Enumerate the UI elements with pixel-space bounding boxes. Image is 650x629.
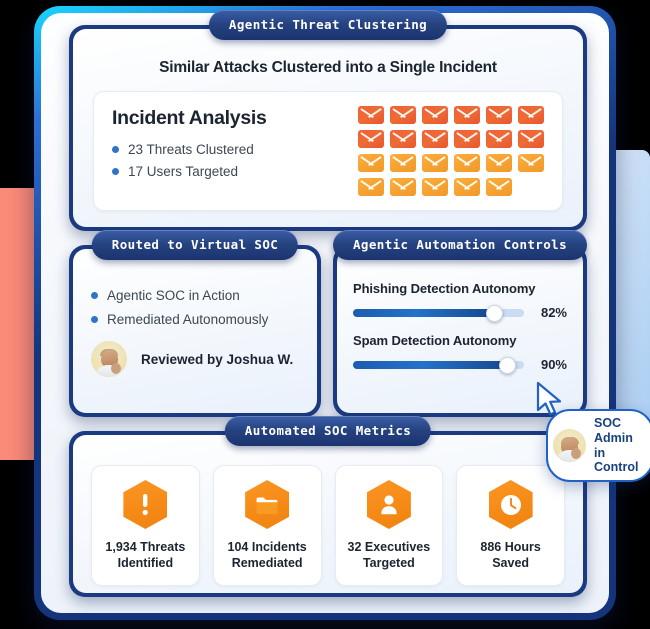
envelope-icon [454, 106, 480, 124]
incident-bullet-label: 23 Threats Clustered [128, 142, 254, 157]
device-frame: Agentic Threat Clustering Similar Attack… [34, 6, 616, 620]
folder-icon [245, 480, 289, 529]
metric-line2: Saved [461, 555, 560, 571]
metric-line1: 104 Incidents [218, 539, 317, 555]
reviewer-name: Reviewed by Joshua W. [141, 352, 293, 367]
alert-exclamation-icon [123, 480, 167, 529]
tooltip-text: SOC Admin in Control [594, 416, 638, 475]
badge-soc-metrics: Automated SOC Metrics [225, 416, 431, 446]
controls-content: Phishing Detection Autonomy 82% Spam Det… [337, 249, 583, 372]
slider-thumb[interactable] [499, 357, 516, 374]
list-item: Remediated Autonomously [91, 312, 317, 327]
metric-line2: Remediated [218, 555, 317, 571]
metric-line1: 1,934 Threats [96, 539, 195, 555]
list-item: 23 Threats Clustered [112, 142, 267, 157]
routed-bullet-label: Agentic SOC in Action [107, 288, 240, 303]
slider-label-spam: Spam Detection Autonomy [353, 333, 567, 348]
spam-autonomy-value: 90% [533, 357, 567, 372]
panel-metrics-body: 1,934 Threats Identified 104 Incidents R… [73, 435, 583, 593]
incident-analysis-text: Incident Analysis 23 Threats Clustered 1… [94, 92, 267, 186]
frame-inner-surface: Agentic Threat Clustering Similar Attack… [41, 13, 609, 613]
tooltip-line2: in Control [594, 446, 638, 476]
envelope-grid [358, 92, 562, 196]
metric-card-threats-identified: 1,934 Threats Identified [91, 465, 200, 586]
phishing-autonomy-value: 82% [533, 305, 567, 320]
envelope-icon [454, 154, 480, 172]
bullet-dot-icon [112, 146, 119, 153]
clock-icon [489, 480, 533, 529]
metric-card-incidents-remediated: 104 Incidents Remediated [213, 465, 322, 586]
soc-admin-tooltip: SOC Admin in Control [546, 409, 650, 482]
panel-soc-metrics: Automated SOC Metrics 1,934 Threats Iden… [69, 431, 587, 597]
metric-line2: Identified [96, 555, 195, 571]
envelope-icon [518, 130, 544, 148]
reviewer-row: Reviewed by Joshua W. [91, 341, 317, 377]
slider-fill [353, 309, 493, 317]
routed-bullet-label: Remediated Autonomously [107, 312, 268, 327]
envelope-icon [422, 130, 448, 148]
envelope-icon [358, 130, 384, 148]
metric-line1: 32 Executives [340, 539, 439, 555]
envelope-icon [390, 178, 416, 196]
envelope-icon [390, 106, 416, 124]
badge-routed-virtual-soc: Routed to Virtual SOC [92, 230, 298, 260]
panel-routed-virtual-soc: Routed to Virtual SOC Agentic SOC in Act… [69, 245, 321, 417]
envelope-icon [358, 154, 384, 172]
badge-threat-clustering: Agentic Threat Clustering [209, 10, 447, 40]
slider-thumb[interactable] [486, 305, 503, 322]
bullet-dot-icon [91, 316, 98, 323]
incident-analysis-title: Incident Analysis [112, 107, 267, 130]
envelope-icon [390, 154, 416, 172]
envelope-icon [454, 130, 480, 148]
envelope-icon [422, 106, 448, 124]
phishing-autonomy-slider[interactable] [353, 309, 524, 317]
slider-fill [353, 361, 507, 369]
slider-row-spam[interactable]: 90% [353, 357, 567, 372]
avatar [91, 341, 127, 377]
envelope-icon [454, 178, 480, 196]
envelope-icon [486, 154, 512, 172]
envelope-icon [422, 154, 448, 172]
envelope-icon [390, 130, 416, 148]
avatar [553, 429, 586, 462]
metric-line2: Targeted [340, 555, 439, 571]
metric-card-executives-targeted: 32 Executives Targeted [335, 465, 444, 586]
envelope-icon [422, 178, 448, 196]
envelope-icon [486, 106, 512, 124]
panel-routed-body: Agentic SOC in Action Remediated Autonom… [73, 249, 317, 413]
person-icon [367, 480, 411, 529]
envelope-icon [358, 178, 384, 196]
metric-line1: 886 Hours [461, 539, 560, 555]
list-item: Agentic SOC in Action [91, 288, 317, 303]
panel-threat-clustering-body: Similar Attacks Clustered into a Single … [73, 29, 583, 227]
envelope-icon [486, 178, 512, 196]
badge-automation-controls: Agentic Automation Controls [333, 230, 587, 260]
list-item: 17 Users Targeted [112, 164, 267, 179]
incident-analysis-card: Incident Analysis 23 Threats Clustered 1… [93, 91, 563, 211]
envelope-icon [518, 154, 544, 172]
panel-threat-clustering: Agentic Threat Clustering Similar Attack… [69, 25, 587, 231]
metric-card-hours-saved: 886 Hours Saved [456, 465, 565, 586]
bullet-dot-icon [91, 292, 98, 299]
tooltip-line1: SOC Admin [594, 416, 638, 446]
slider-row-phishing[interactable]: 82% [353, 305, 567, 320]
envelope-icon [518, 106, 544, 124]
routed-content: Agentic SOC in Action Remediated Autonom… [73, 249, 317, 377]
envelope-icon [358, 106, 384, 124]
incident-bullet-label: 17 Users Targeted [128, 164, 238, 179]
metrics-row: 1,934 Threats Identified 104 Incidents R… [73, 435, 583, 586]
bullet-dot-icon [112, 168, 119, 175]
slider-label-phishing: Phishing Detection Autonomy [353, 281, 567, 296]
spam-autonomy-slider[interactable] [353, 361, 524, 369]
avatar-hand [111, 363, 121, 374]
envelope-icon [486, 130, 512, 148]
